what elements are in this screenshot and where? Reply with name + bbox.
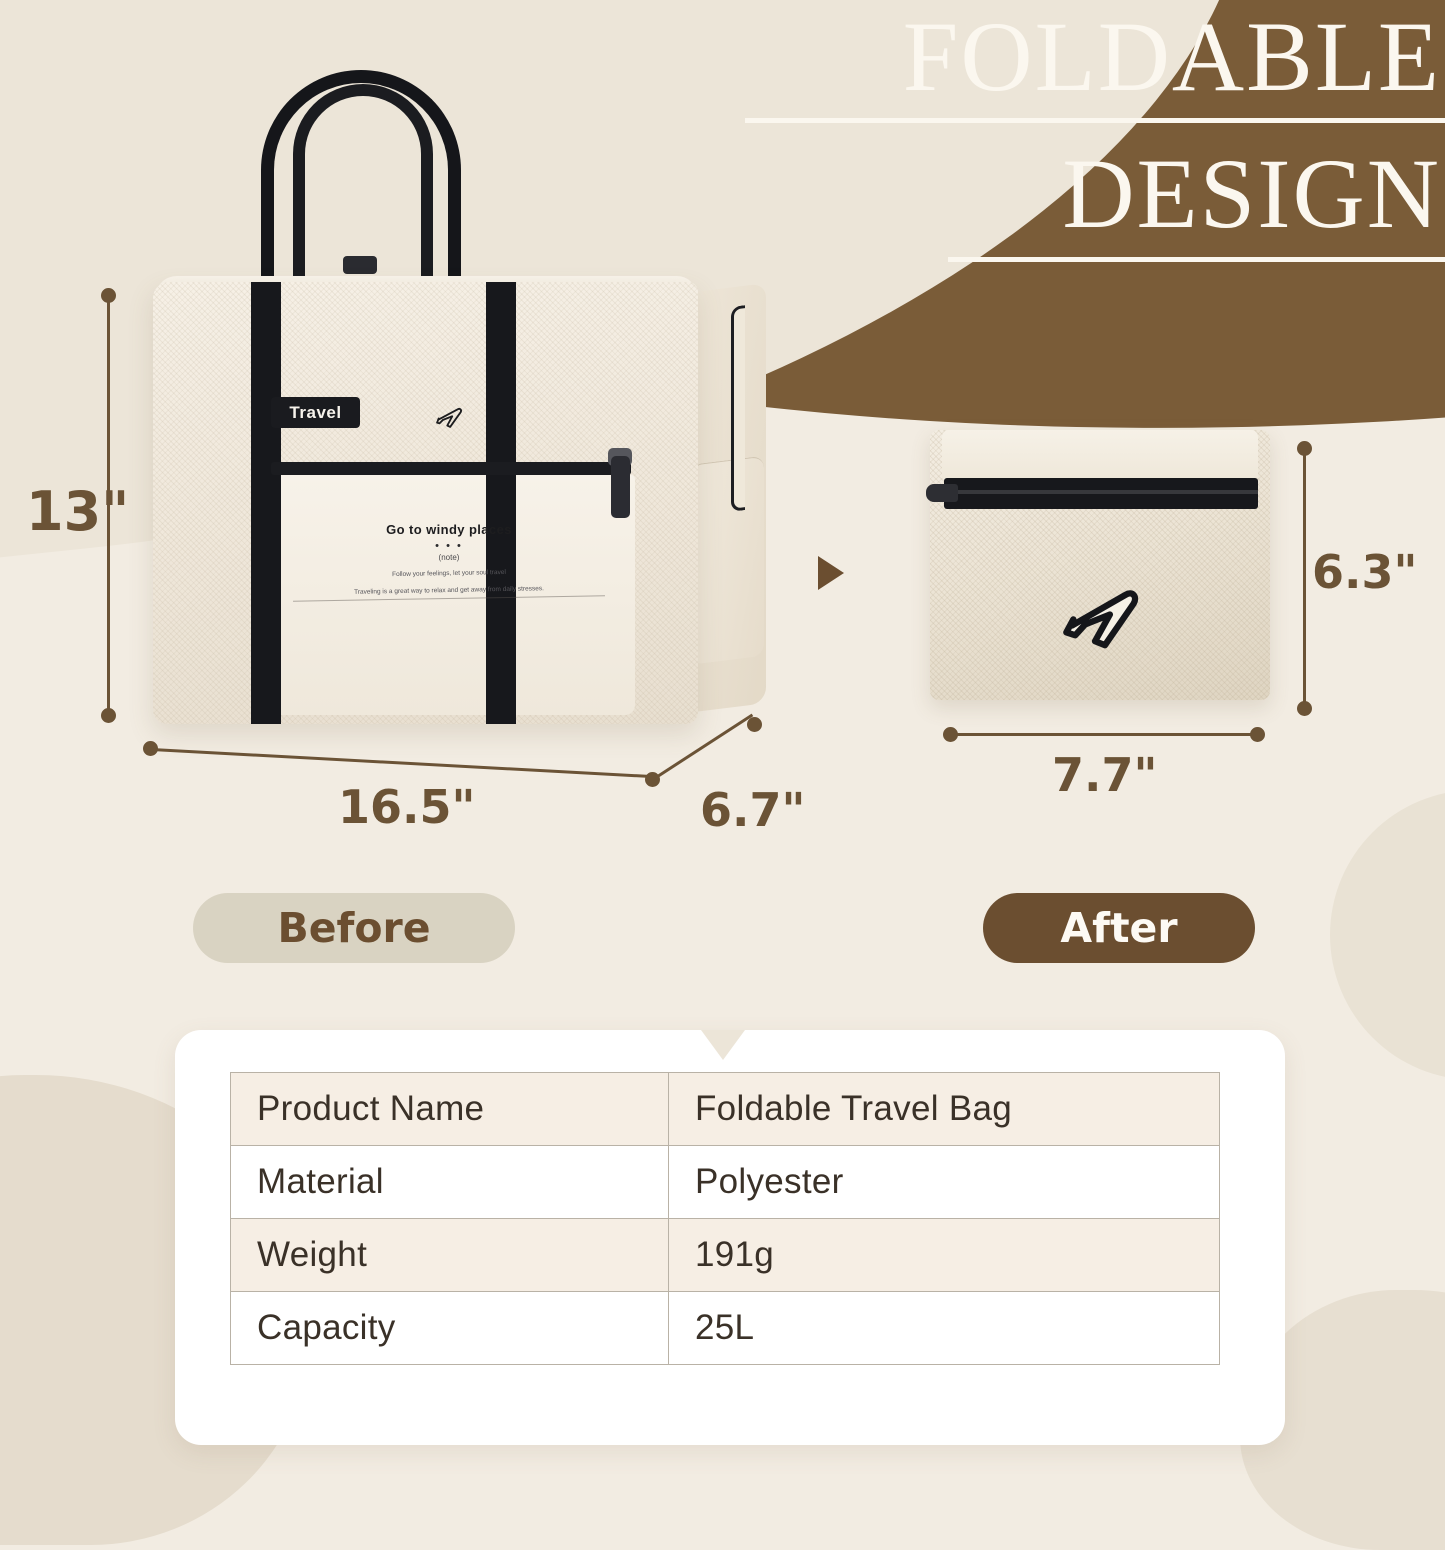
dim-height-dot-bottom [101, 708, 116, 723]
pouch-zipper-pull [926, 484, 958, 502]
badge-after: After [983, 893, 1255, 963]
badge-before-label: Before [277, 904, 430, 952]
table-row: Capacity 25L [231, 1292, 1220, 1365]
table-row: Weight 191g [231, 1219, 1220, 1292]
folded-pouch-image [930, 430, 1270, 700]
pouch-dim-height-dot-bottom [1297, 701, 1312, 716]
airplane-icon [431, 400, 465, 434]
pouch-dim-width-label: 7.7" [1052, 748, 1157, 802]
spec-value: 191g [669, 1219, 1220, 1292]
bag-zipper-track [271, 462, 631, 475]
pouch-dim-width-line [951, 733, 1257, 736]
pouch-dim-width-dot-right [1250, 727, 1265, 742]
spec-key: Product Name [231, 1073, 669, 1146]
table-row: Material Polyester [231, 1146, 1220, 1219]
pouch-flap [942, 430, 1258, 478]
travel-bag-image: Travel Go to windy places • • • (note) F… [143, 70, 743, 750]
headline-rule-bottom [948, 257, 1445, 262]
bag-pocket-note: (note) [263, 553, 635, 562]
bag-strap-left [251, 282, 281, 724]
pouch-zipper-track [944, 478, 1258, 509]
dim-depth-label: 6.7" [700, 783, 805, 837]
spec-value: 25L [669, 1292, 1220, 1365]
spec-key: Capacity [231, 1292, 669, 1365]
dim-width-label: 16.5" [338, 780, 475, 834]
bag-side-pocket [694, 456, 764, 665]
bag-luggage-sleeve [731, 305, 745, 512]
infographic-canvas: FOLDABLE DESIGN Travel Go to windy pla [0, 0, 1445, 1445]
dim-height-label: 13" [26, 480, 129, 543]
play-triangle-icon [818, 556, 844, 590]
airplane-icon [1048, 568, 1148, 663]
badge-after-label: After [1060, 904, 1177, 952]
bag-pocket-dots: • • • [263, 540, 635, 552]
bag-travel-tag: Travel [271, 397, 360, 428]
headline-block: FOLDABLE DESIGN [735, 8, 1445, 262]
spec-card-notch [701, 1030, 745, 1060]
table-row: Product Name Foldable Travel Bag [231, 1073, 1220, 1146]
spec-table: Product Name Foldable Travel Bag Materia… [230, 1072, 1220, 1365]
dim-depth-dot-top [747, 717, 762, 732]
bag-zipper-pull [611, 456, 630, 518]
bag-travel-tag-label: Travel [289, 403, 341, 423]
spec-value: Polyester [669, 1146, 1220, 1219]
headline-line-2: DESIGN [735, 145, 1445, 243]
spec-key: Weight [231, 1219, 669, 1292]
bag-pocket-headline: Go to windy places [263, 522, 635, 537]
headline-line-1: FOLDABLE [735, 8, 1445, 106]
spec-key: Material [231, 1146, 669, 1219]
bag-pocket-text-block: Go to windy places • • • (note) Follow y… [263, 522, 635, 596]
spec-table-body: Product Name Foldable Travel Bag Materia… [231, 1073, 1220, 1365]
bag-handle-clip [343, 256, 377, 274]
pouch-dim-height-line [1303, 448, 1306, 708]
pouch-dim-height-label: 6.3" [1312, 545, 1417, 599]
bag-strap-right [486, 282, 516, 724]
badge-before: Before [193, 893, 515, 963]
headline-rule-top [745, 118, 1445, 123]
bag-pocket-fine-line-1: Follow your feelings, let your soul trav… [263, 566, 635, 582]
spec-value: Foldable Travel Bag [669, 1073, 1220, 1146]
